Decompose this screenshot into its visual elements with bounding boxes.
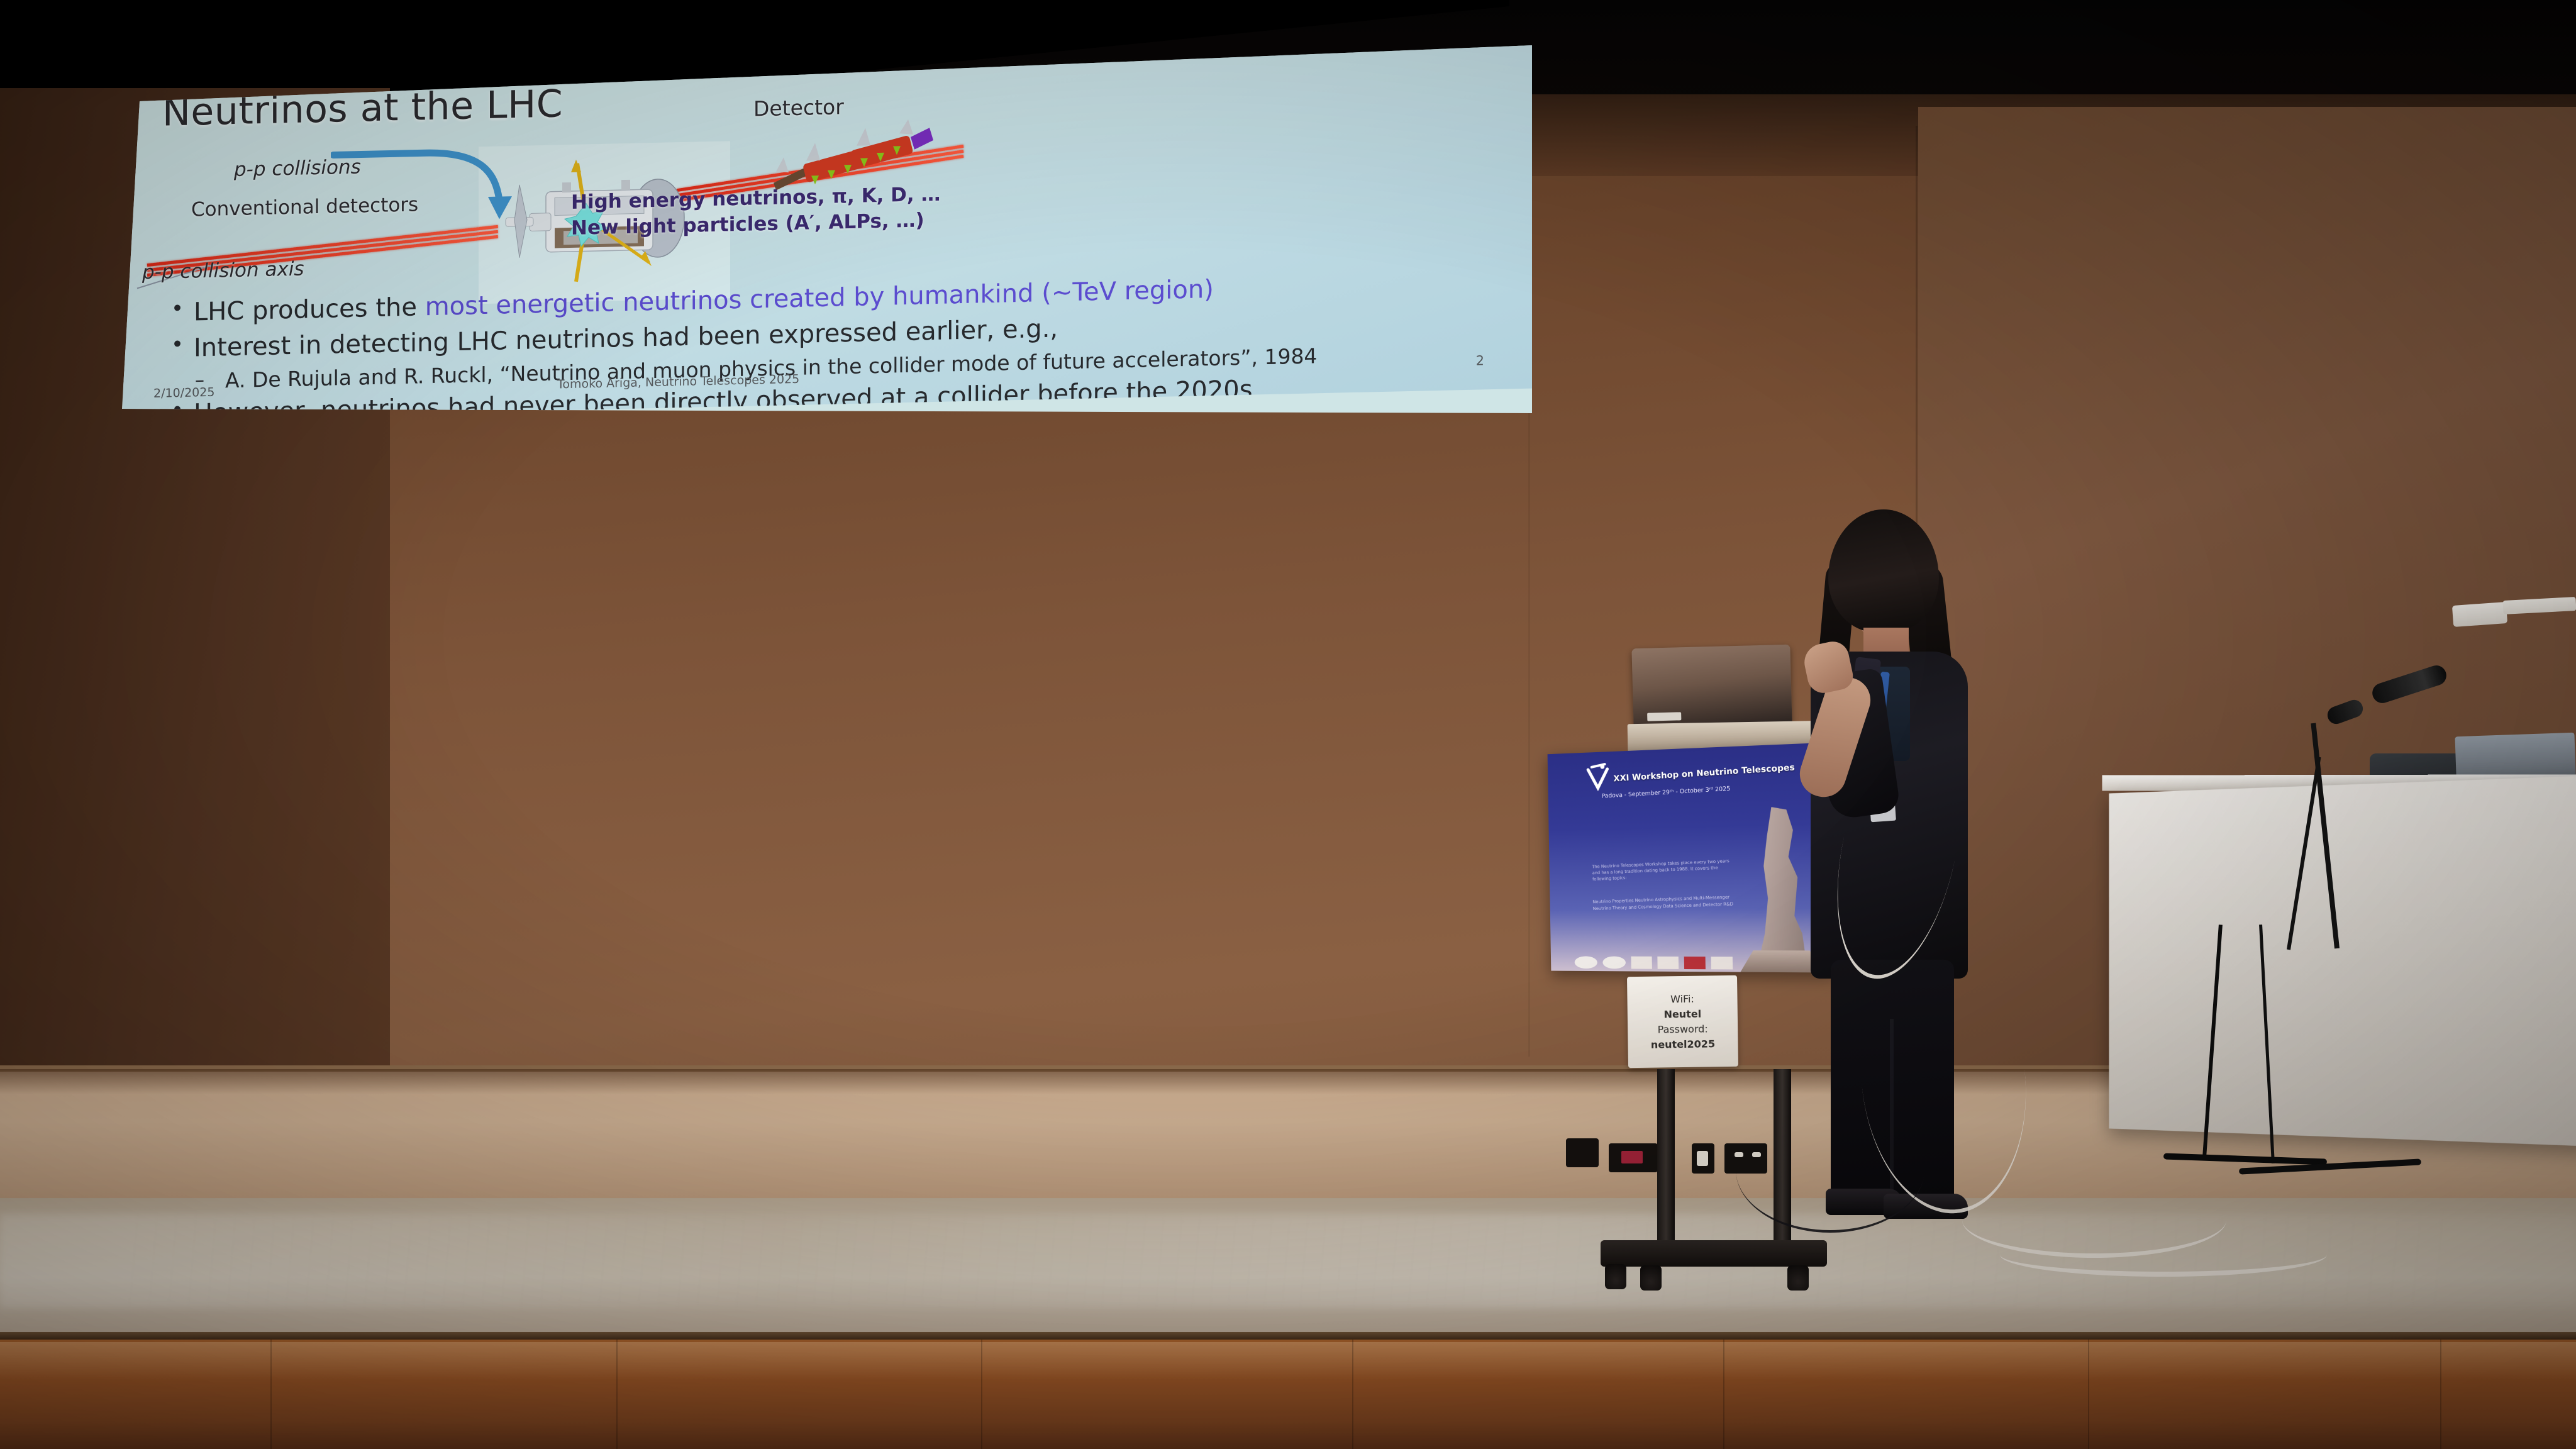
wifi-info-sign: WiFi: Neutel Password: neutel2025 <box>1627 975 1738 1068</box>
banner-subtitle: Padova - September 29ᵗʰ - October 3ʳᵈ 20… <box>1602 780 1816 800</box>
wifi-ssid: Neutel <box>1663 1006 1701 1022</box>
wall-mount-bracket <box>2452 602 2507 627</box>
infn-logo <box>1575 956 1597 969</box>
outlet-plug <box>1697 1151 1708 1166</box>
stage-apron-highlight <box>0 1342 2576 1380</box>
screen-surface: Neutrinos at the LHC <box>60 23 1532 441</box>
label-detector: Detector <box>753 94 844 121</box>
apron-plank-seam <box>2440 1340 2441 1449</box>
apron-plank-seam <box>270 1340 272 1449</box>
apron-plank-seam <box>616 1340 618 1449</box>
laptop-sticker <box>1647 712 1681 721</box>
bullet-text: LHC produces the <box>194 292 425 326</box>
lectern <box>2109 775 2576 1146</box>
sponsor-logo <box>1631 957 1652 969</box>
projection-screen: Neutrinos at the LHC <box>60 23 1532 441</box>
banner-topics-text: Neutrino Properties Neutrino Astrophysic… <box>1592 894 1735 912</box>
cart-caster-wheel <box>1605 1264 1626 1289</box>
wifi-password-label: Password: <box>1657 1021 1707 1037</box>
slide-title: Neutrinos at the LHC <box>162 82 563 135</box>
cart-caster-wheel <box>1640 1265 1662 1291</box>
apron-plank-seam <box>1723 1340 1724 1449</box>
hair-top <box>1828 509 1939 633</box>
lecture-hall-scene: Neutrinos at the LHC <box>0 0 2576 1449</box>
floor-cable-dark <box>1736 1107 1924 1233</box>
presentation-slide: Neutrinos at the LHC <box>123 11 1538 420</box>
wifi-password: neutel2025 <box>1651 1036 1715 1052</box>
sponsor-logo <box>1657 957 1679 969</box>
label-pp-collisions: p-p collisions <box>234 155 361 181</box>
neutrino-annotation: High energy neutrinos, π, K, D, … New li… <box>571 182 941 241</box>
apron-plank-seam <box>1352 1340 1353 1449</box>
sponsor-logo <box>1711 957 1733 969</box>
wifi-label: WiFi: <box>1670 991 1694 1007</box>
apron-plank-seam <box>981 1340 982 1449</box>
outlet-indicator <box>1621 1151 1643 1163</box>
apron-plank-seam <box>2088 1340 2089 1449</box>
cart-post <box>1657 1069 1675 1255</box>
infn-logo <box>1602 957 1626 969</box>
neutrino-logo-icon <box>1584 763 1611 792</box>
floor-cable <box>2000 1233 2327 1277</box>
sponsor-logo <box>1684 957 1706 969</box>
sponsor-logos <box>1574 952 1806 970</box>
label-pp-collision-axis: p-p collision axis <box>142 258 304 284</box>
footer-date: 2/10/2025 <box>153 386 214 401</box>
footer-page-number: 2 <box>1476 353 1484 368</box>
laptop[interactable] <box>1631 645 1792 728</box>
floor-outlet-box <box>1566 1138 1599 1167</box>
banner-body-text: The Neutrino Telescopes Workshop takes p… <box>1592 858 1735 883</box>
